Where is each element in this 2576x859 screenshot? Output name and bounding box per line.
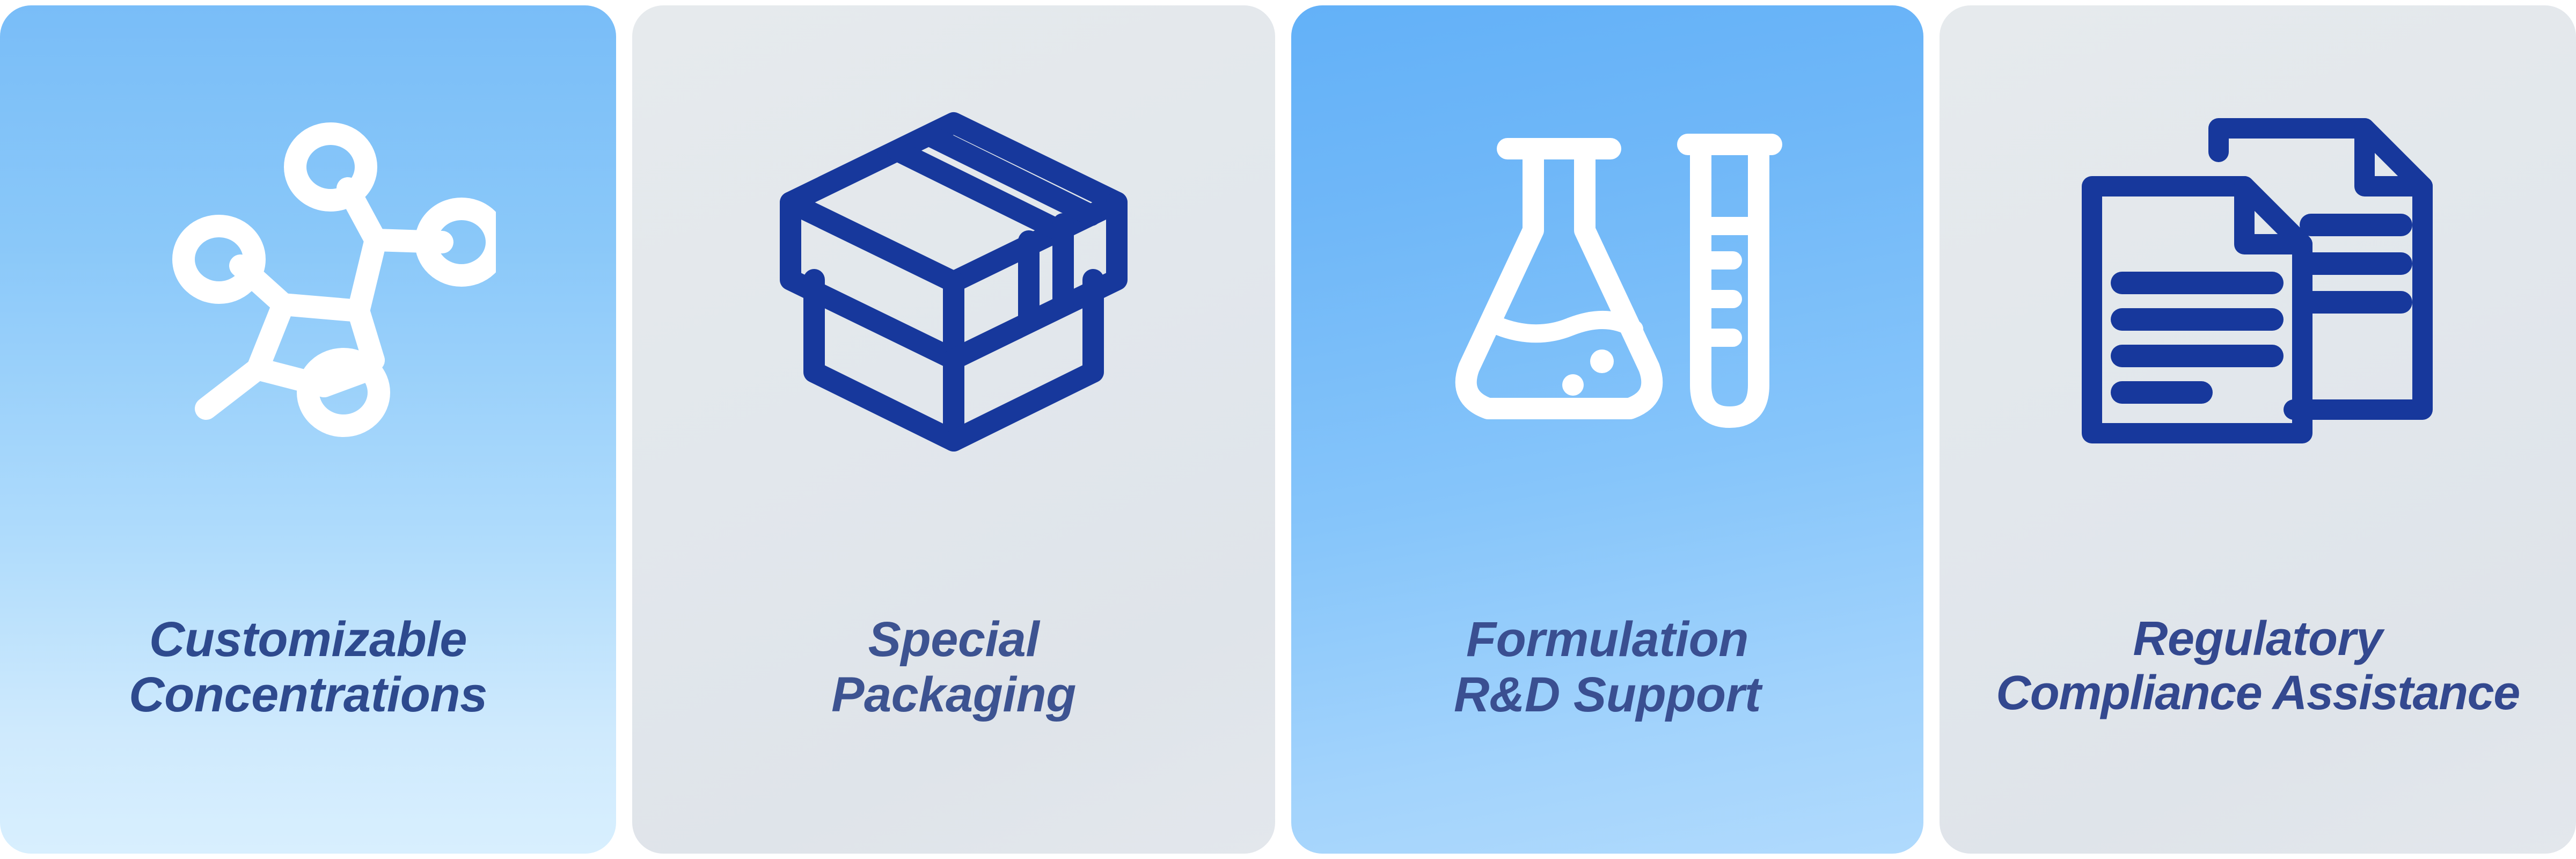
card-label: Customizable Concentrations [0,612,616,723]
card-label-line-1: Special [647,612,1260,667]
card-label: Formulation R&D Support [1291,612,1923,723]
feature-card-regulatory-compliance-assistance[interactable]: Regulatory Compliance Assistance [1940,5,2576,854]
card-label: Special Packaging [632,612,1275,723]
card-label-line-2: Compliance Assistance [1942,666,2574,720]
card-label-line-2: Concentrations [15,667,601,723]
card-label-line-1: Customizable [15,612,601,667]
feature-card-customizable-concentrations[interactable]: Customizable Concentrations [0,5,616,854]
card-label-line-2: R&D Support [1306,667,1908,723]
feature-card-formulation-rd-support[interactable]: Formulation R&D Support [1291,5,1923,854]
documents-icon [1940,5,2576,612]
package-box-icon [632,5,1275,612]
feature-card-special-packaging[interactable]: Special Packaging [632,5,1275,854]
feature-card-row: Customizable Concentrations [0,0,2576,859]
card-label: Regulatory Compliance Assistance [1940,612,2576,720]
molecule-icon [0,5,616,612]
card-label-line-1: Regulatory [1942,612,2574,666]
card-label-line-2: Packaging [647,667,1260,723]
card-label-line-1: Formulation [1306,612,1908,667]
flask-test-tube-icon [1291,5,1923,612]
